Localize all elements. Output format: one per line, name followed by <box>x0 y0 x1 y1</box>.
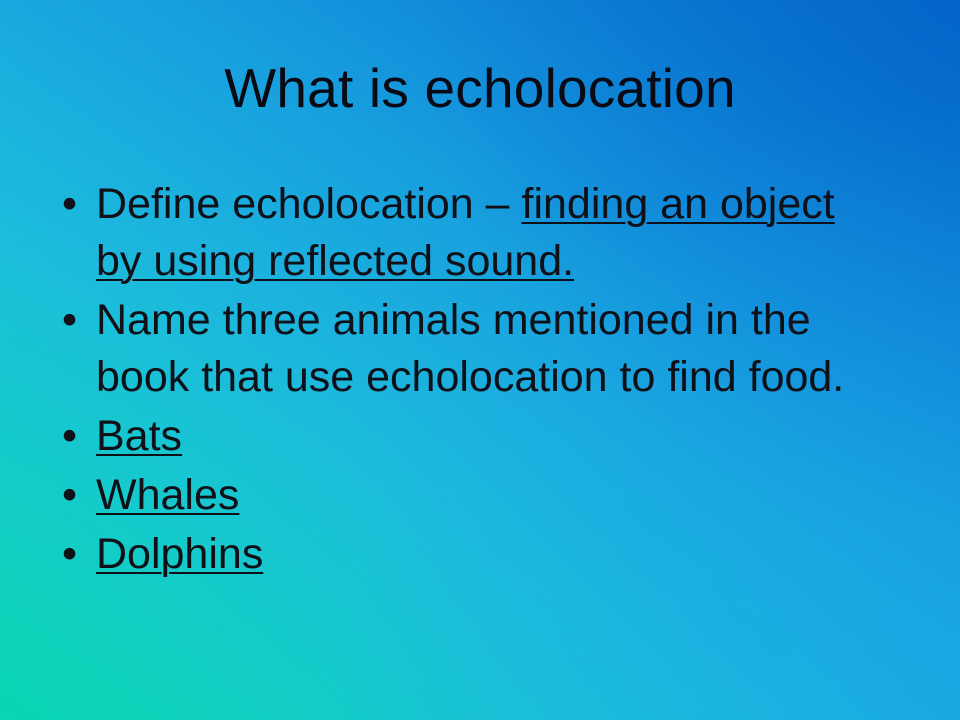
presentation-slide: What is echolocation •Define echolocatio… <box>0 0 960 720</box>
bullet-text: Dolphins <box>96 530 263 578</box>
bullet-text: Name three animals mentioned in the book… <box>96 296 844 401</box>
bullet-whales: •Whales <box>60 467 878 524</box>
bullet-marker-icon: • <box>62 408 84 465</box>
slide-title: What is echolocation <box>0 58 960 118</box>
underlined-text-segment: Bats <box>96 412 182 460</box>
bullet-bats: •Bats <box>60 408 878 465</box>
slide-body-bullet-list: •Define echolocation – finding an object… <box>60 176 878 585</box>
bullet-marker-icon: • <box>62 292 84 349</box>
plain-text-segment: Define echolocation – <box>96 180 522 228</box>
bullet-define-echolocation: •Define echolocation – finding an object… <box>60 176 878 290</box>
plain-text-segment: Name three animals mentioned in the book… <box>96 296 844 401</box>
bullet-marker-icon: • <box>62 467 84 524</box>
underlined-text-segment: Dolphins <box>96 530 263 578</box>
bullet-marker-icon: • <box>62 526 84 583</box>
bullet-text: Define echolocation – finding an object … <box>96 180 835 285</box>
underlined-text-segment: Whales <box>96 471 239 519</box>
bullet-text: Whales <box>96 471 239 519</box>
bullet-name-three-animals: •Name three animals mentioned in the boo… <box>60 292 878 406</box>
bullet-dolphins: •Dolphins <box>60 526 878 583</box>
bullet-text: Bats <box>96 412 182 460</box>
bullet-marker-icon: • <box>62 176 84 233</box>
